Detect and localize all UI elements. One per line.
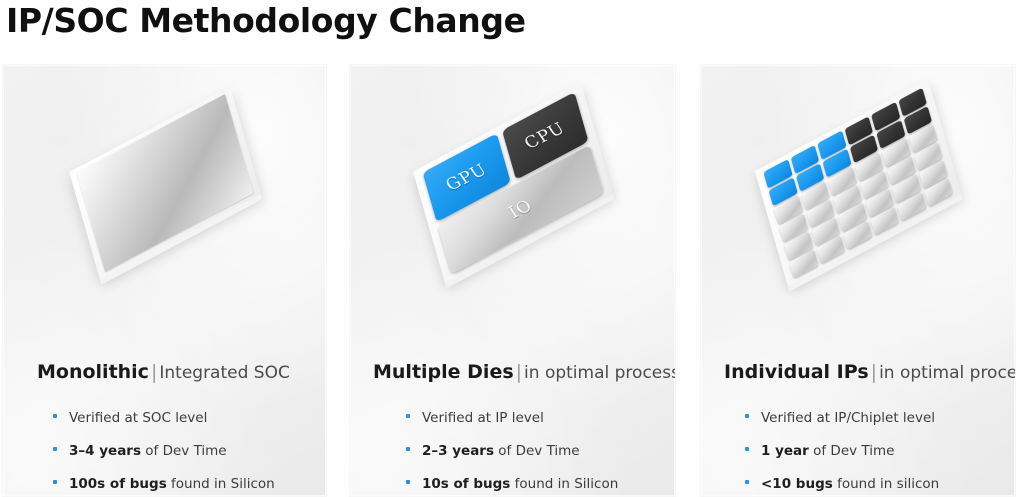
illustration-multiple-dies: GPU CPU IO [350,73,675,293]
list-item: Verified at SOC level [53,410,318,443]
multi-die-package: GPU CPU IO [413,82,613,283]
bullet-label: 2–3 years of Dev Time [422,443,580,459]
card-heading-individual-ips: Individual IPs|in optimal process [724,361,1016,383]
list-item: 1 year of Dev Time [745,443,1007,476]
bullet-strong: 100s of bugs [69,476,167,492]
heading-separator: | [149,361,159,383]
bullet-strong: 2–3 years [422,443,494,459]
bullet-rest: Verified at SOC level [69,410,207,426]
illustration-individual-ips [701,73,1015,293]
bullet-rest: found in Silicon [167,476,275,492]
gpu-die-label: GPU [442,160,491,195]
heading-separator: | [514,361,524,383]
list-item: Verified at IP level [406,410,667,443]
bullet-icon [53,447,57,451]
heading-separator: | [869,361,879,383]
bullet-icon [745,447,749,451]
io-die-label: IO [504,196,535,222]
bullet-label: Verified at SOC level [69,410,207,426]
list-item: 10s of bugs found in Silicon [406,476,667,497]
bullet-label: 1 year of Dev Time [761,443,894,459]
monolithic-die [69,87,260,280]
cpu-die-label: CPU [521,119,569,154]
heading-sub: in optimal process [524,363,676,383]
bullet-rest: of Dev Time [494,443,580,459]
bullet-label: Verified at IP/Chiplet level [761,410,935,426]
heading-sub: in optimal process [879,363,1016,383]
bullet-label: 100s of bugs found in Silicon [69,476,275,492]
bullet-list-individual-ips: Verified at IP/Chiplet level 1 year of D… [745,410,1007,497]
list-item: 2–3 years of Dev Time [406,443,667,476]
bullet-icon [406,447,410,451]
page-title: IP/SOC Methodology Change [6,1,526,40]
bullet-strong: 10s of bugs [422,476,510,492]
card-individual-ips[interactable]: Individual IPs|in optimal process Verifi… [700,64,1016,497]
list-item: 100s of bugs found in Silicon [53,476,318,497]
bullet-rest: found in Silicon [510,476,618,492]
bullet-strong: 3–4 years [69,443,141,459]
bullet-rest: of Dev Time [809,443,895,459]
card-monolithic[interactable]: Monolithic|Integrated SOC Verified at SO… [2,64,327,497]
bullet-list-monolithic: Verified at SOC level 3–4 years of Dev T… [53,410,318,497]
list-item: 3–4 years of Dev Time [53,443,318,476]
bullet-rest: Verified at IP level [422,410,544,426]
heading-bold: Individual IPs [724,361,869,383]
bullet-strong: 1 year [761,443,809,459]
bullet-label: <10 bugs found in silicon [761,476,939,492]
heading-sub: Integrated SOC [159,363,289,383]
illustration-monolithic [3,73,326,293]
heading-bold: Monolithic [37,361,149,383]
card-multiple-dies[interactable]: GPU CPU IO Multiple Dies|in optimal proc… [349,64,676,497]
bullet-icon [745,414,749,418]
bullet-rest: Verified at IP/Chiplet level [761,410,935,426]
bullet-list-multiple-dies: Verified at IP level 2–3 years of Dev Ti… [406,410,667,497]
bullet-rest: found in silicon [833,476,939,492]
bullet-icon [53,414,57,418]
bullet-strong: <10 bugs [761,476,833,492]
chiplet-grid-package [755,79,961,287]
bullet-label: 10s of bugs found in Silicon [422,476,618,492]
card-heading-multiple-dies: Multiple Dies|in optimal process [373,361,676,383]
slide-root: IP/SOC Methodology Change Monolithic|Int… [0,0,1024,497]
heading-bold: Multiple Dies [373,361,514,383]
bullet-label: Verified at IP level [422,410,544,426]
bullet-label: 3–4 years of Dev Time [69,443,227,459]
list-item: <10 bugs found in silicon [745,476,1007,497]
bullet-icon [53,480,57,484]
list-item: Verified at IP/Chiplet level [745,410,1007,443]
bullet-icon [406,414,410,418]
bullet-icon [745,480,749,484]
bullet-rest: of Dev Time [141,443,227,459]
card-heading-monolithic: Monolithic|Integrated SOC [37,361,290,383]
bullet-icon [406,480,410,484]
